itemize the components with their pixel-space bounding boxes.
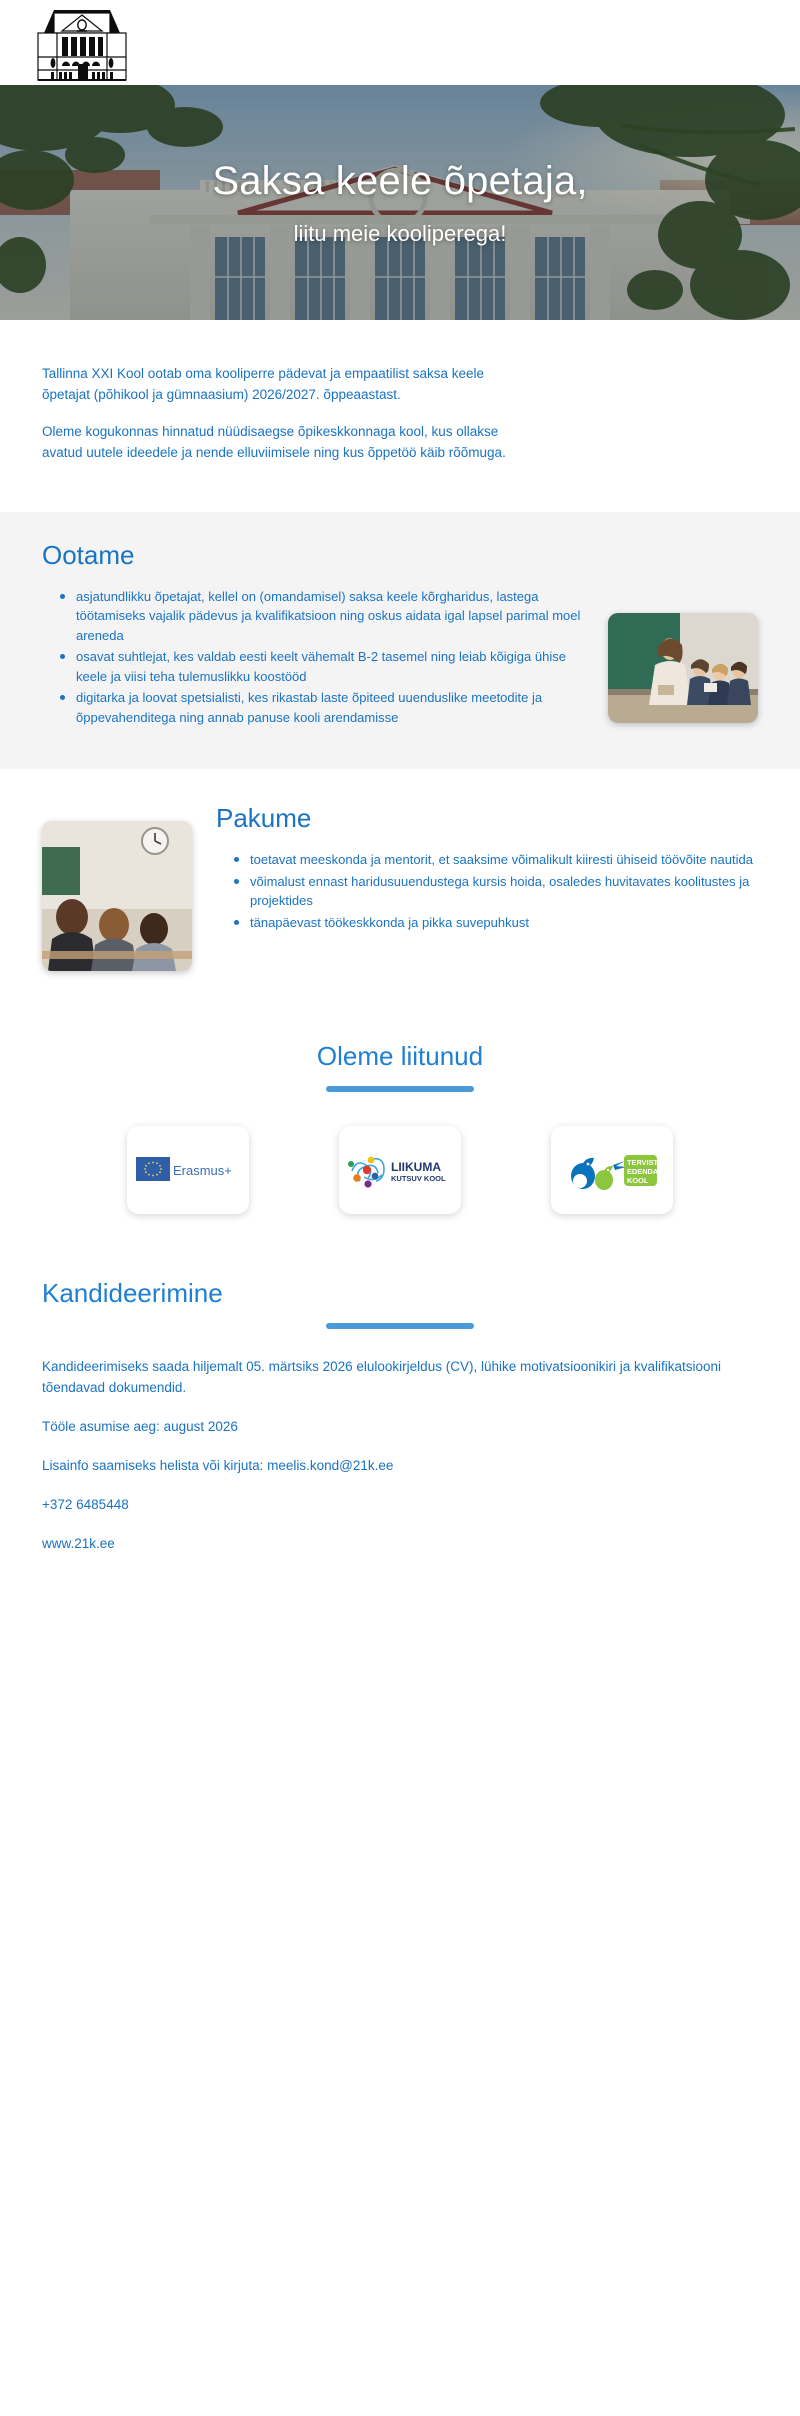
ootame-list: asjatundlikku õpetajat, kellel on (omand… — [42, 587, 590, 728]
liikuma-label: LIIKUMA — [391, 1160, 441, 1174]
list-item: võimalust ennast haridusuuendustega kurs… — [234, 872, 758, 911]
ootame-heading: Ootame — [42, 540, 758, 571]
school-building-logo[interactable] — [22, 2, 142, 84]
apply-section: Kandideerimine Kandideerimiseks saada hi… — [0, 1248, 800, 1625]
page-subtitle: liitu meie kooliperega! — [294, 221, 507, 247]
pakume-photo — [42, 821, 192, 971]
pakume-heading: Pakume — [216, 803, 758, 834]
page-title: Saksa keele õpetaja, — [212, 159, 587, 203]
pakume-section: Pakume toetavat meeskonda ja mentorit, e… — [0, 769, 800, 1007]
partners-section: Oleme liitunud Erasmus+ — [0, 1007, 800, 1248]
list-item: osavat suhtlejat, kes valdab eesti keelt… — [60, 647, 590, 686]
apply-contact-email[interactable]: Lisainfo saamiseks helista või kirjuta: … — [42, 1456, 758, 1477]
list-item: digitarka ja loovat spetsialisti, kes ri… — [60, 688, 590, 727]
apply-start-date: Tööle asumise aeg: august 2026 — [42, 1417, 758, 1438]
pakume-list: toetavat meeskonda ja mentorit, et saaks… — [216, 850, 758, 932]
partner-card-erasmus[interactable]: Erasmus+ — [127, 1126, 249, 1214]
hero-text-block: Saksa keele õpetaja, liitu meie kooliper… — [0, 85, 800, 320]
list-item: toetavat meeskonda ja mentorit, et saaks… — [234, 850, 758, 870]
list-item: tänapäevast töökeskkonda ja pikka suvepu… — [234, 913, 758, 933]
apply-heading: Kandideerimine — [42, 1278, 758, 1309]
header-logo-bar — [0, 0, 800, 85]
ootame-photo — [608, 613, 758, 723]
svg-text:KOOL: KOOL — [627, 1176, 649, 1185]
liikuma-kutsuv-kool-logo: LIIKUMA KUTSUV KOOL — [344, 1151, 456, 1189]
intro-paragraph-2: Oleme kogukonnas hinnatud nüüdisaegse õp… — [42, 422, 512, 464]
apply-website[interactable]: www.21k.ee — [42, 1534, 758, 1555]
partner-card-liikuma[interactable]: LIIKUMA KUTSUV KOOL — [339, 1126, 461, 1214]
heading-underline — [326, 1323, 474, 1329]
partner-logo-grid: Erasmus+ LIIKUMA KUTSUV KOOL — [120, 1126, 680, 1214]
ootame-section: Ootame asjatundlikku õpetajat, kellel on… — [0, 512, 800, 770]
classroom-children-photo — [42, 821, 192, 971]
hero-banner: Saksa keele õpetaja, liitu meie kooliper… — [0, 85, 800, 320]
apply-contact-phone[interactable]: +372 6485448 — [42, 1495, 758, 1516]
svg-text:EDENDAV: EDENDAV — [627, 1167, 660, 1176]
heading-underline — [326, 1086, 474, 1092]
erasmus-plus-logo: Erasmus+ — [136, 1153, 240, 1187]
tervist-edendav-kool-logo: TERVIST EDENDAV KOOL — [564, 1149, 660, 1191]
list-item: asjatundlikku õpetajat, kellel on (omand… — [60, 587, 590, 646]
ootame-list-wrapper: asjatundlikku õpetajat, kellel on (omand… — [42, 587, 590, 730]
pakume-body: Pakume toetavat meeskonda ja mentorit, e… — [216, 799, 758, 934]
svg-text:TERVIST: TERVIST — [627, 1158, 659, 1167]
erasmus-label: Erasmus+ — [173, 1163, 232, 1178]
apply-instructions: Kandideerimiseks saada hiljemalt 05. mär… — [42, 1357, 758, 1399]
partner-card-tervist-edendav[interactable]: TERVIST EDENDAV KOOL — [551, 1126, 673, 1214]
intro-paragraph-1: Tallinna XXI Kool ootab oma kooliperre p… — [42, 364, 512, 406]
liikuma-sublabel: KUTSUV KOOL — [391, 1174, 446, 1183]
intro-section: Tallinna XXI Kool ootab oma kooliperre p… — [0, 320, 800, 512]
partners-heading: Oleme liitunud — [20, 1041, 780, 1072]
teacher-with-students-photo — [608, 613, 758, 723]
